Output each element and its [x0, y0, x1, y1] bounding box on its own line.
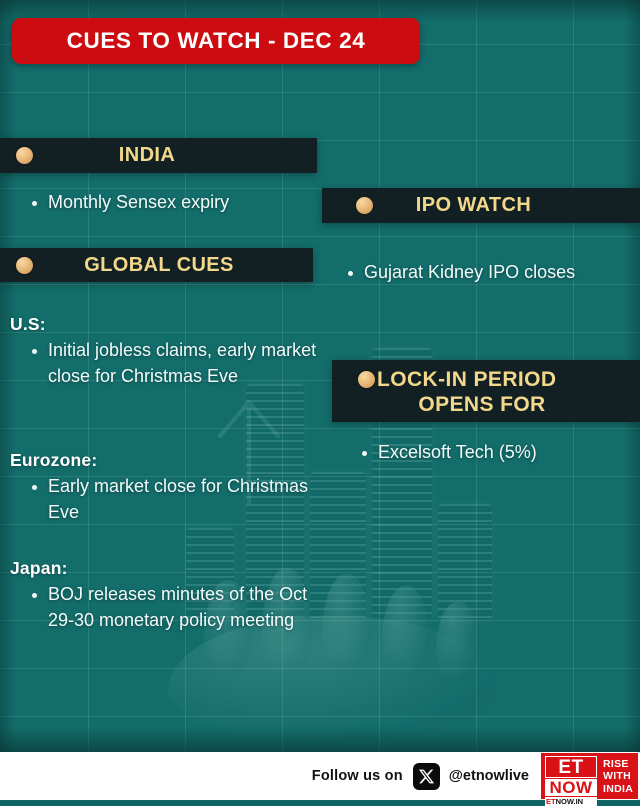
follow-us-label: Follow us on — [312, 768, 403, 784]
list-item: BOJ releases minutes of the Oct 29-30 mo… — [30, 582, 335, 633]
list-item: Initial jobless claims, early market clo… — [30, 338, 320, 389]
page-title: CUES TO WATCH - DEC 24 — [67, 28, 366, 54]
footer-bar: Follow us on @etnowlive ET NOW ETNOW.IN … — [0, 752, 640, 800]
infographic-canvas: CUES TO WATCH - DEC 24 INDIA Monthly Sen… — [0, 0, 640, 800]
section-header-lock-in-label-line2: OPENS FOR — [418, 393, 545, 416]
section-header-india: INDIA — [0, 138, 317, 173]
etnow-logo-domain: ETNOW.IN — [545, 797, 597, 806]
gold-coin-icon — [356, 197, 373, 214]
section-header-lock-in-label-line1: LOCK-IN PERIOD — [377, 367, 556, 392]
section-header-global-cues: GLOBAL CUES — [0, 248, 313, 282]
ipo-watch-bullet-list: Gujarat Kidney IPO closes — [346, 260, 626, 288]
etnow-tagline-line3: INDIA — [603, 783, 634, 796]
hand-finger — [382, 586, 430, 678]
lock-in-bullet-list: Excelsoft Tech (5%) — [360, 440, 640, 468]
list-item: Excelsoft Tech (5%) — [360, 440, 640, 466]
gold-coin-icon — [358, 371, 375, 388]
section-header-india-label: INDIA — [119, 144, 219, 167]
japan-bullet-list: BOJ releases minutes of the Oct 29-30 mo… — [30, 582, 335, 635]
social-handle[interactable]: @etnowlive — [449, 768, 529, 784]
list-item: Monthly Sensex expiry — [30, 190, 320, 216]
etnow-tagline-line1: RISE — [603, 758, 634, 771]
etnow-logo: ET NOW ETNOW.IN RISE WITH INDIA — [541, 753, 638, 799]
subhead-us: U.S: — [10, 314, 46, 335]
hand-thumb — [436, 602, 480, 682]
subhead-japan: Japan: — [10, 558, 68, 579]
section-header-global-cues-label: GLOBAL CUES — [84, 254, 250, 277]
us-bullet-list: Initial jobless claims, early market clo… — [30, 338, 320, 391]
subhead-eurozone: Eurozone: — [10, 450, 97, 471]
section-header-lock-in-period: LOCK-IN PERIOD OPENS FOR — [332, 360, 640, 422]
section-header-ipo-watch: IPO WATCH — [322, 188, 640, 223]
section-header-ipo-watch-label: IPO WATCH — [416, 194, 585, 217]
list-item: Gujarat Kidney IPO closes — [346, 260, 626, 286]
etnow-logo-domain-prefix: ET — [546, 797, 556, 806]
etnow-logo-et: ET — [545, 756, 597, 778]
gold-coin-icon — [16, 147, 33, 164]
title-banner: CUES TO WATCH - DEC 24 — [12, 18, 420, 64]
gold-coin-icon — [16, 257, 33, 274]
coin-stack — [438, 504, 492, 620]
x-twitter-icon[interactable] — [413, 763, 440, 790]
etnow-tagline-line2: WITH — [603, 770, 634, 783]
eurozone-bullet-list: Early market close for Christmas Eve — [30, 474, 320, 527]
etnow-logo-now: NOW — [545, 779, 597, 796]
etnow-logo-domain-rest: NOW.IN — [556, 797, 584, 806]
india-bullet-list: Monthly Sensex expiry — [30, 190, 320, 218]
list-item: Early market close for Christmas Eve — [30, 474, 320, 525]
